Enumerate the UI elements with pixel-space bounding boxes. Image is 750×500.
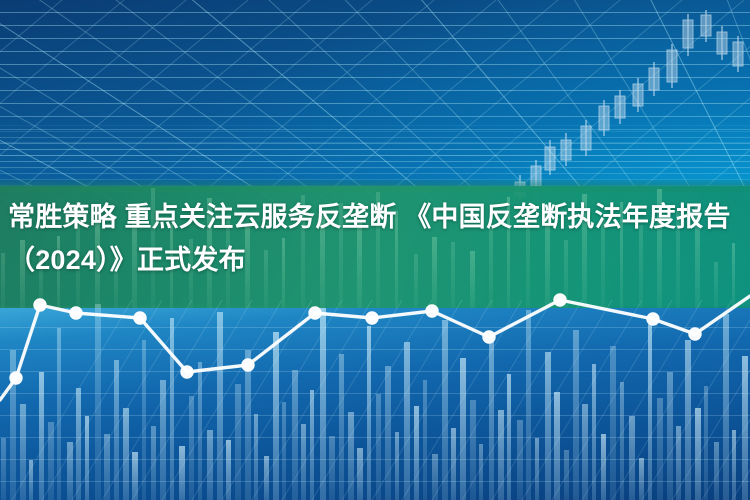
banner-image: 常胜策略 重点关注云服务反垄断 《中国反垄断执法年度报告（2024）》正式发布: [0, 0, 750, 500]
headline-title: 常胜策略 重点关注云服务反垄断 《中国反垄断执法年度报告（2024）》正式发布: [0, 196, 750, 282]
